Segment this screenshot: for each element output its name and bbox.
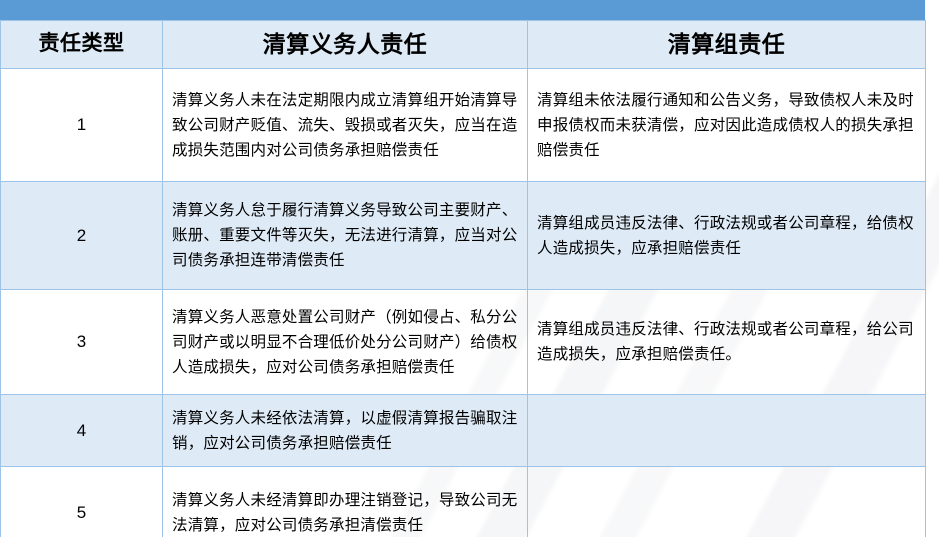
column-header-type: 责任类型 <box>1 21 163 69</box>
obligor-liability-cell: 清算义务人怠于履行清算义务导致公司主要财产、账册、重要文件等灭失，无法进行清算，… <box>163 182 528 290</box>
obligor-liability-text: 清算义务人恶意处置公司财产（例如侵占、私分公司财产或以明显不合理低价处分公司财产… <box>172 305 520 380</box>
group-liability-cell <box>528 467 926 537</box>
row-number-cell: 4 <box>1 395 163 467</box>
row-number-cell: 1 <box>1 69 163 182</box>
obligor-liability-cell: 清算义务人恶意处置公司财产（例如侵占、私分公司财产或以明显不合理低价处分公司财产… <box>163 290 528 395</box>
group-liability-cell: 清算组成员违反法律、行政法规或者公司章程，给债权人造成损失，应承担赔偿责任 <box>528 182 926 290</box>
group-liability-cell: 清算组未依法履行通知和公告义务，导致债权人未及时申报债权而未获清偿，应对因此造成… <box>528 69 926 182</box>
table-row: 4 清算义务人未经依法清算，以虚假清算报告骗取注销，应对公司债务承担赔偿责任 <box>1 395 926 467</box>
obligor-liability-text: 清算义务人未经依法清算，以虚假清算报告骗取注销，应对公司债务承担赔偿责任 <box>172 406 520 456</box>
liability-comparison-table: 责任类型 清算义务人责任 清算组责任 1 清算义务人未在法定期限内成立清算组开始… <box>0 20 926 537</box>
obligor-liability-text: 清算义务人怠于履行清算义务导致公司主要财产、账册、重要文件等灭失，无法进行清算，… <box>172 198 520 273</box>
column-header-liquidation-group: 清算组责任 <box>528 21 926 69</box>
obligor-liability-cell: 清算义务人未在法定期限内成立清算组开始清算导致公司财产贬值、流失、毁损或者灭失，… <box>163 69 528 182</box>
obligor-liability-cell: 清算义务人未经依法清算，以虚假清算报告骗取注销，应对公司债务承担赔偿责任 <box>163 395 528 467</box>
group-liability-text: 清算组成员违反法律、行政法规或者公司章程，给公司造成损失，应承担赔偿责任。 <box>537 317 918 367</box>
obligor-liability-cell: 清算义务人未经清算即办理注销登记，导致公司无法清算，应对公司债务承担清偿责任 <box>163 467 528 537</box>
table-row: 5 清算义务人未经清算即办理注销登记，导致公司无法清算，应对公司债务承担清偿责任 <box>1 467 926 537</box>
table-row: 3 清算义务人恶意处置公司财产（例如侵占、私分公司财产或以明显不合理低价处分公司… <box>1 290 926 395</box>
row-number-cell: 2 <box>1 182 163 290</box>
group-liability-cell <box>528 395 926 467</box>
table-header-row: 责任类型 清算义务人责任 清算组责任 <box>1 21 926 69</box>
column-header-liquidation-obligor: 清算义务人责任 <box>163 21 528 69</box>
row-number-cell: 5 <box>1 467 163 537</box>
row-number-cell: 3 <box>1 290 163 395</box>
table-row: 1 清算义务人未在法定期限内成立清算组开始清算导致公司财产贬值、流失、毁损或者灭… <box>1 69 926 182</box>
obligor-liability-text: 清算义务人未在法定期限内成立清算组开始清算导致公司财产贬值、流失、毁损或者灭失，… <box>172 88 520 163</box>
group-liability-text: 清算组成员违反法律、行政法规或者公司章程，给债权人造成损失，应承担赔偿责任 <box>537 211 918 261</box>
table-row: 2 清算义务人怠于履行清算义务导致公司主要财产、账册、重要文件等灭失，无法进行清… <box>1 182 926 290</box>
obligor-liability-text: 清算义务人未经清算即办理注销登记，导致公司无法清算，应对公司债务承担清偿责任 <box>172 488 520 537</box>
slide-canvas: 责任类型 清算义务人责任 清算组责任 1 清算义务人未在法定期限内成立清算组开始… <box>0 0 939 537</box>
group-liability-cell: 清算组成员违反法律、行政法规或者公司章程，给公司造成损失，应承担赔偿责任。 <box>528 290 926 395</box>
top-accent-bar <box>0 0 925 20</box>
group-liability-text: 清算组未依法履行通知和公告义务，导致债权人未及时申报债权而未获清偿，应对因此造成… <box>537 88 918 163</box>
